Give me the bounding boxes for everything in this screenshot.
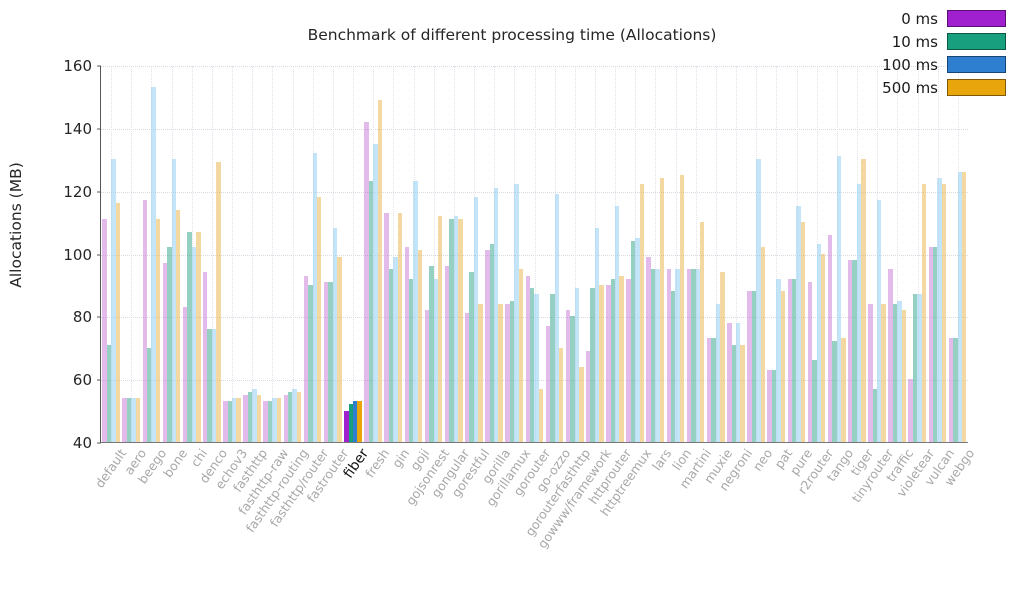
bar xyxy=(740,345,744,442)
bar xyxy=(478,304,482,442)
y-axis-label: Allocations (MB) xyxy=(2,0,30,450)
bar-group xyxy=(686,66,706,442)
bar xyxy=(458,219,462,442)
legend-item: 500 ms xyxy=(882,77,1006,98)
y-tick-label: 160 xyxy=(63,57,101,75)
bar xyxy=(680,175,684,442)
bar xyxy=(337,257,341,442)
bar xyxy=(599,285,603,442)
legend-label: 10 ms xyxy=(892,33,938,51)
bar-group xyxy=(827,66,847,442)
bar-group xyxy=(565,66,585,442)
bar xyxy=(418,250,422,442)
chart-legend: 0 ms10 ms100 ms500 ms xyxy=(878,6,1010,100)
bar xyxy=(640,184,644,442)
bar-group xyxy=(424,66,444,442)
bar-group xyxy=(484,66,504,442)
bar-group xyxy=(645,66,665,442)
bar xyxy=(136,398,140,442)
bar-group xyxy=(544,66,564,442)
bar-group xyxy=(867,66,887,442)
bar-group xyxy=(847,66,867,442)
bar xyxy=(277,398,281,442)
bar-group xyxy=(464,66,484,442)
bar-group xyxy=(343,66,363,442)
bar-group xyxy=(726,66,746,442)
bar-group xyxy=(786,66,806,442)
x-tick-label: lars xyxy=(649,446,674,473)
bar-group xyxy=(182,66,202,442)
bar xyxy=(317,197,321,442)
bar-group xyxy=(605,66,625,442)
bar-group xyxy=(141,66,161,442)
bar-group xyxy=(222,66,242,442)
bar xyxy=(559,348,563,442)
bar-group xyxy=(444,66,464,442)
bar xyxy=(378,100,382,442)
bar-group xyxy=(282,66,302,442)
bar xyxy=(438,216,442,442)
bar xyxy=(700,222,704,442)
bar xyxy=(398,213,402,442)
bar-group xyxy=(161,66,181,442)
bar xyxy=(841,338,845,442)
bar-group xyxy=(121,66,141,442)
bar xyxy=(801,222,805,442)
bar xyxy=(519,269,523,442)
plot-area: 406080100120140160 defaultaerobeegobonec… xyxy=(100,66,968,443)
bar-group xyxy=(303,66,323,442)
bar-group xyxy=(262,66,282,442)
bar-group xyxy=(202,66,222,442)
bar xyxy=(216,162,220,442)
bar xyxy=(236,398,240,442)
bar xyxy=(922,184,926,442)
bar xyxy=(176,210,180,442)
bar xyxy=(821,254,825,443)
bar xyxy=(498,304,502,442)
y-tick-label: 140 xyxy=(63,120,101,138)
y-axis-label-text: Allocations (MB) xyxy=(7,162,25,288)
bar-group xyxy=(665,66,685,442)
bar xyxy=(196,232,200,442)
bar xyxy=(156,219,160,442)
bar-group xyxy=(504,66,524,442)
bar xyxy=(357,401,361,442)
legend-label: 0 ms xyxy=(901,10,938,28)
bar-group xyxy=(383,66,403,442)
legend-swatch xyxy=(947,33,1006,50)
bar xyxy=(761,247,765,442)
legend-swatch xyxy=(947,79,1006,96)
bar xyxy=(942,184,946,442)
bar-group xyxy=(625,66,645,442)
bar-group xyxy=(403,66,423,442)
legend-item: 100 ms xyxy=(882,54,1006,75)
bar-group xyxy=(746,66,766,442)
bar xyxy=(619,276,623,443)
x-tick-label: neo xyxy=(750,446,776,474)
legend-item: 10 ms xyxy=(882,31,1006,52)
chart-title: Benchmark of different processing time (… xyxy=(0,26,1024,44)
bar-group xyxy=(887,66,907,442)
bar-group xyxy=(363,66,383,442)
bar xyxy=(116,203,120,442)
bar-group xyxy=(242,66,262,442)
legend-label: 100 ms xyxy=(882,56,938,74)
bar-group xyxy=(323,66,343,442)
bar-group xyxy=(766,66,786,442)
legend-label: 500 ms xyxy=(882,79,938,97)
bar-group xyxy=(585,66,605,442)
bar-group xyxy=(524,66,544,442)
chart-canvas: Benchmark of different processing time (… xyxy=(0,0,1024,600)
bar-group xyxy=(806,66,826,442)
y-tick-label: 120 xyxy=(63,183,101,201)
bar-group xyxy=(706,66,726,442)
x-tick-label: gin xyxy=(389,446,412,470)
bar-group xyxy=(927,66,947,442)
bar xyxy=(781,291,785,442)
bar xyxy=(297,392,301,442)
legend-item: 0 ms xyxy=(882,8,1006,29)
x-axis-ticks: defaultaerobeegobonechidencoechov3fastht… xyxy=(101,442,968,600)
bar-group xyxy=(948,66,968,442)
y-tick-label: 100 xyxy=(63,246,101,264)
legend-swatch xyxy=(947,56,1006,73)
bar xyxy=(720,272,724,442)
bar-group xyxy=(101,66,121,442)
bar-group xyxy=(907,66,927,442)
bar xyxy=(660,178,664,442)
bar xyxy=(962,172,966,442)
bar xyxy=(579,367,583,442)
bar xyxy=(861,159,865,442)
bar xyxy=(257,395,261,442)
bar xyxy=(902,310,906,442)
bar xyxy=(881,304,885,442)
legend-swatch xyxy=(947,10,1006,27)
bar xyxy=(539,389,543,442)
bar-groups xyxy=(101,66,968,442)
